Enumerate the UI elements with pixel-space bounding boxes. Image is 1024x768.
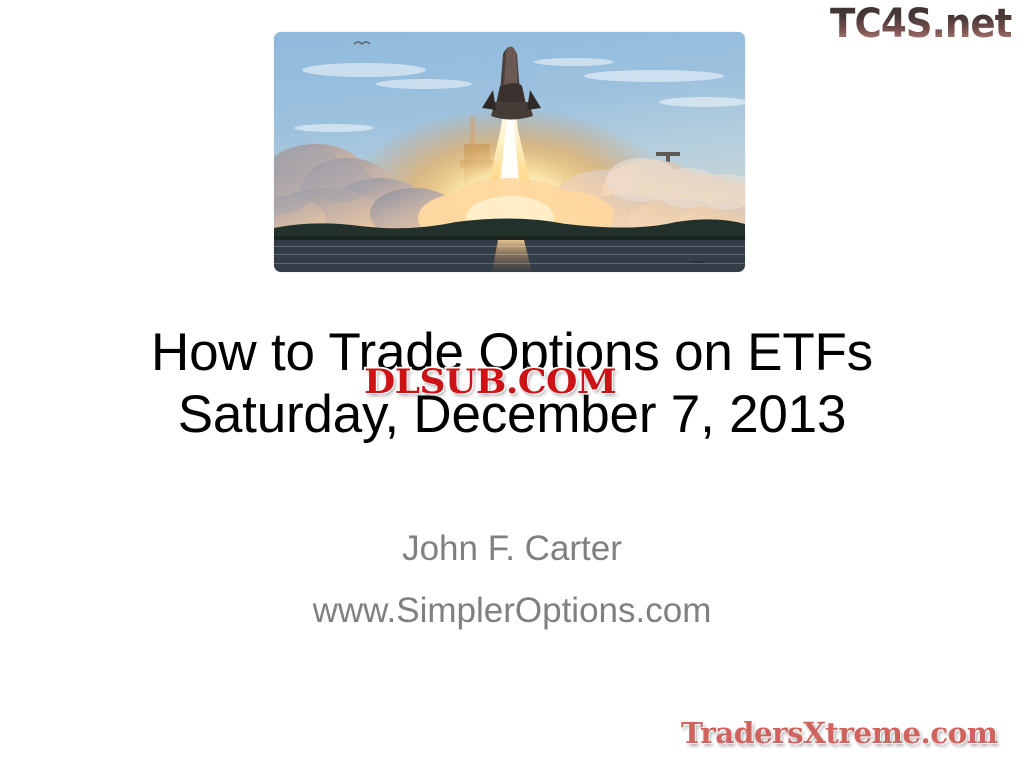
watermark-tc4s: TC4S.net (830, 1, 1012, 47)
slide-subtitle: John F. Carter www.SimplerOptions.com (60, 518, 964, 642)
space-shuttle-launch-photo (274, 32, 745, 272)
launch-photo-artwork (274, 32, 745, 272)
subtitle-website: www.SimplerOptions.com (60, 580, 964, 642)
watermark-dlsub: DLSUB.COM (364, 362, 616, 402)
watermark-tradersxtreme: TradersXtreme.com (681, 716, 997, 750)
subtitle-presenter-name: John F. Carter (60, 518, 964, 580)
presentation-title-slide: How to Trade Options on ETFs Saturday, D… (0, 0, 1024, 768)
